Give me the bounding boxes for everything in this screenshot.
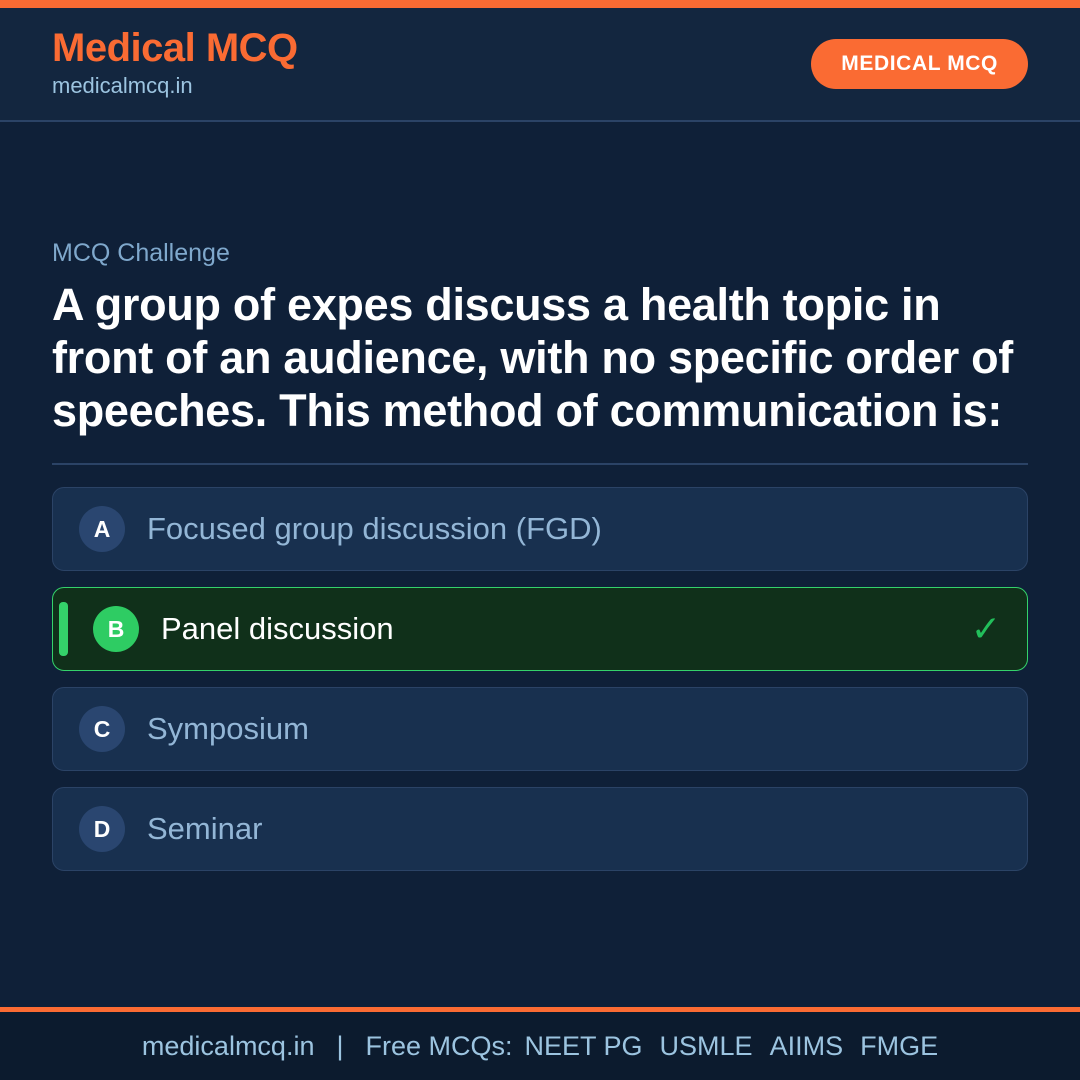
- option-c[interactable]: C Symposium ✓: [52, 687, 1028, 771]
- option-letter-badge: C: [79, 706, 125, 752]
- option-letter-badge: D: [79, 806, 125, 852]
- main-content: MCQ Challenge A group of expes discuss a…: [0, 122, 1080, 1007]
- footer-exam-fmge[interactable]: FMGE: [860, 1031, 938, 1062]
- option-label: Panel discussion: [161, 612, 955, 646]
- top-accent-bar: [0, 0, 1080, 8]
- footer-exam-list: NEET PG USMLE AIIMS FMGE: [513, 1031, 939, 1062]
- option-letter-badge: A: [79, 506, 125, 552]
- header: Medical MCQ medicalmcq.in MEDICAL MCQ: [0, 8, 1080, 122]
- option-label: Focused group discussion (FGD): [147, 512, 955, 546]
- eyebrow-label: MCQ Challenge: [52, 122, 1028, 268]
- option-d[interactable]: D Seminar ✓: [52, 787, 1028, 871]
- footer-exam-usmle[interactable]: USMLE: [660, 1031, 753, 1062]
- footer: medicalmcq.in | Free MCQs: NEET PG USMLE…: [0, 1012, 1080, 1080]
- options-list: A Focused group discussion (FGD) ✓ B Pan…: [52, 487, 1028, 871]
- option-label: Symposium: [147, 712, 955, 746]
- footer-separator: |: [314, 1031, 365, 1062]
- check-icon: ✓: [971, 611, 1001, 647]
- option-letter-badge: B: [93, 606, 139, 652]
- section-divider: [52, 463, 1028, 465]
- header-badge: MEDICAL MCQ: [811, 39, 1028, 89]
- mcq-card: Medical MCQ medicalmcq.in MEDICAL MCQ MC…: [0, 0, 1080, 1080]
- option-b[interactable]: B Panel discussion ✓: [52, 587, 1028, 671]
- footer-exam-aiims[interactable]: AIIMS: [770, 1031, 844, 1062]
- brand-subtitle: medicalmcq.in: [52, 71, 298, 102]
- footer-tagline: Free MCQs:: [365, 1031, 512, 1062]
- brand-block: Medical MCQ medicalmcq.in: [52, 27, 298, 102]
- question-text: A group of expes discuss a health topic …: [52, 278, 1028, 437]
- footer-exam-neet-pg[interactable]: NEET PG: [525, 1031, 643, 1062]
- option-label: Seminar: [147, 812, 955, 846]
- footer-site[interactable]: medicalmcq.in: [142, 1031, 315, 1062]
- correct-accent-bar: [59, 602, 68, 656]
- option-a[interactable]: A Focused group discussion (FGD) ✓: [52, 487, 1028, 571]
- brand-title: Medical MCQ: [52, 27, 298, 69]
